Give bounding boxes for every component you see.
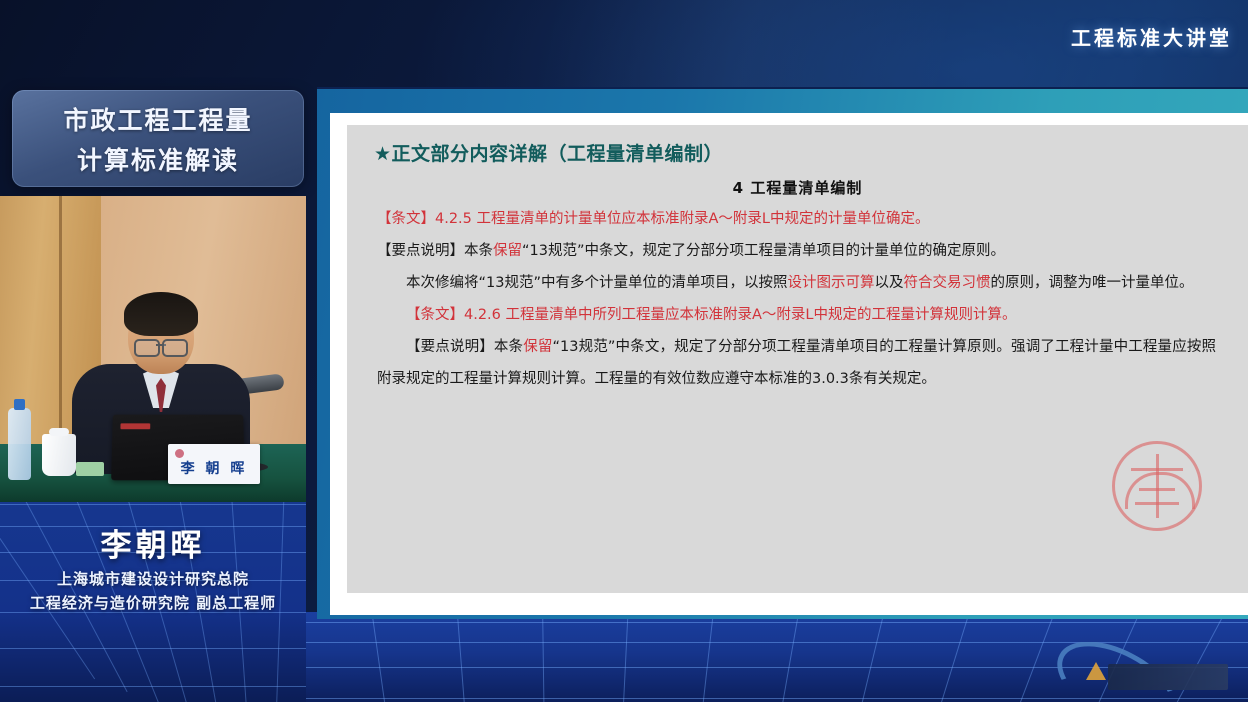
nameplate-seal-icon — [175, 449, 184, 458]
tea-mug-icon — [42, 434, 76, 476]
slide-text-run: 【要点说明】本条 — [377, 243, 493, 259]
speaker-caption: 李朝晖 上海城市建设设计研究总院 工程经济与造价研究院 副总工程师 — [0, 502, 306, 630]
corner-logo-icon — [1052, 642, 1242, 702]
speaker-hair — [124, 292, 198, 336]
program-brand-title: 工程标准大讲堂 — [1071, 22, 1232, 51]
slide-paragraph: 【条文】4.2.5 工程量清单的计量单位应本标准附录A～附录L中规定的计量单位确… — [377, 203, 1216, 235]
grid-line — [937, 612, 973, 702]
institute-seal-watermark-icon — [1112, 441, 1202, 531]
slide-subheading: 4 工程量清单编制 — [347, 177, 1248, 198]
course-title-plaque: 市政工程工程量 计算标准解读 — [12, 90, 304, 187]
slide-text-run: 本次修编将“13规范”中有多个计量单位的清单项目，以按照 — [406, 275, 787, 291]
slide-text-run: 的原则，调整为唯一计量单位。 — [990, 275, 1193, 291]
broadcast-screen: 工程标准大讲堂 市政工程工程量 计算标准解读 李 朝 晖 李朝晖 上海城市建设设… — [0, 0, 1248, 702]
slide-text-run: 【要点说明】本条 — [406, 339, 523, 355]
desk-nameplate: 李 朝 晖 — [168, 444, 260, 484]
grid-line — [0, 648, 306, 649]
speaker-org-line-1: 上海城市建设设计研究总院 — [57, 568, 249, 589]
slide-body-text: 【条文】4.2.5 工程量清单的计量单位应本标准附录A～附录L中规定的计量单位确… — [377, 203, 1216, 395]
water-bottle-icon — [8, 408, 31, 480]
tissue-box-icon — [76, 462, 104, 476]
slide-text-run: 保留 — [493, 243, 522, 259]
course-title-line-2: 计算标准解读 — [77, 141, 239, 177]
grid-line — [370, 612, 388, 702]
slide-text-run: “13规范”中条文，规定了分部分项工程量清单项目的计量单位的确定原则。 — [522, 243, 1005, 259]
slide-text-run: 设计图示可算 — [787, 275, 874, 291]
slide-text-run: 【条文】4.2.5 工程量清单的计量单位应本标准附录A～附录L中规定的计量单位确… — [377, 211, 930, 227]
slide-paragraph: 本次修编将“13规范”中有多个计量单位的清单项目，以按照设计图示可算以及符合交易… — [377, 267, 1216, 299]
grid-line — [701, 612, 715, 702]
slide-paragraph: 【要点说明】本条保留“13规范”中条文，规定了分部分项工程量清单项目的工程量计算… — [377, 331, 1216, 395]
grid-line — [456, 612, 466, 702]
nameplate-text: 李 朝 晖 — [181, 458, 248, 478]
slide-paragraph: 【要点说明】本条保留“13规范”中条文，规定了分部分项工程量清单项目的计量单位的… — [377, 235, 1216, 267]
slide-text-run: 符合交易习惯 — [903, 275, 990, 291]
speaker-name: 李朝晖 — [101, 520, 206, 565]
eyeglasses-icon — [134, 339, 188, 353]
grid-line — [622, 612, 629, 702]
grid-line — [779, 612, 801, 702]
grid-line — [858, 612, 887, 702]
grid-line — [542, 612, 545, 702]
speaker-org-line-2: 工程经济与造价研究院 副总工程师 — [30, 592, 276, 613]
slide-text-run: 以及 — [874, 275, 903, 291]
slide-text-run: 【条文】4.2.6 工程量清单中所列工程量应本标准附录A～附录L中规定的工程量计… — [406, 307, 1017, 323]
slide-heading: ★正文部分内容详解（工程量清单编制） — [374, 139, 723, 166]
slide-text-run: 保留 — [523, 339, 552, 355]
slide-paragraph: 【条文】4.2.6 工程量清单中所列工程量应本标准附录A～附录L中规定的工程量计… — [377, 299, 1216, 331]
course-title-line-1: 市政工程工程量 — [63, 101, 252, 137]
slide-content: ★正文部分内容详解（工程量清单编制） 4 工程量清单编制 【条文】4.2.5 工… — [347, 125, 1248, 593]
speaker-video-feed: 李 朝 晖 — [0, 196, 306, 502]
